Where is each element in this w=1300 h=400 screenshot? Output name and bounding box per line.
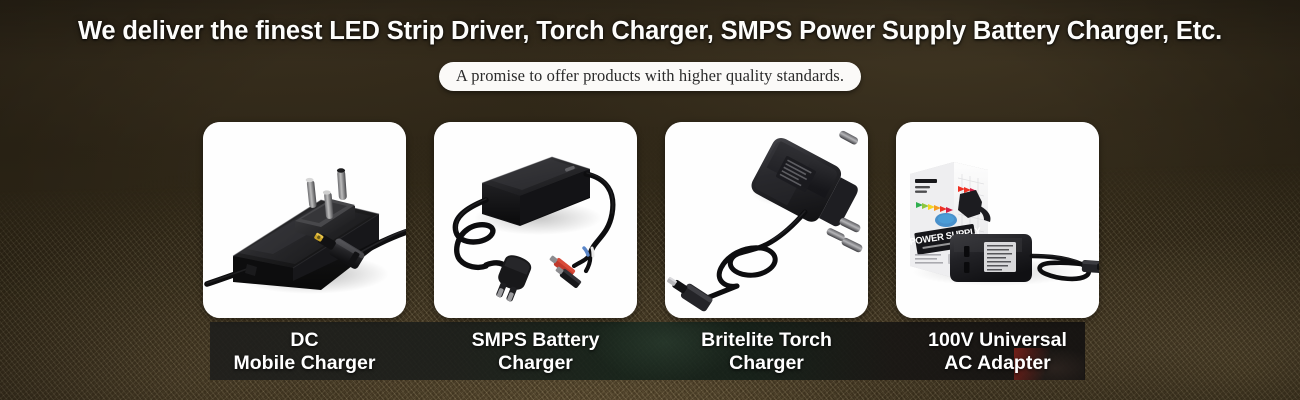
product-label-britelite-torch-charger: Britelite Torch Charger bbox=[665, 322, 868, 375]
label-line-1: SMPS Battery bbox=[472, 329, 600, 351]
product-label-row: DC Mobile Charger SMPS Battery Charger B… bbox=[203, 322, 1099, 375]
smps-battery-charger-photo bbox=[434, 122, 637, 318]
product-label-dc-mobile-charger: DC Mobile Charger bbox=[203, 322, 406, 375]
product-label-universal-ac-adapter: 100V Universal AC Adapter bbox=[896, 322, 1099, 375]
subtitle-pill-wrapper: A promise to offer products with higher … bbox=[0, 62, 1300, 91]
label-line-2: Charger bbox=[434, 352, 637, 375]
universal-ac-adapter-photo: POWER SUPPLY bbox=[896, 122, 1099, 318]
label-line-2: Charger bbox=[665, 352, 868, 375]
product-card-britelite-torch-charger[interactable] bbox=[665, 122, 868, 318]
label-line-1: 100V Universal bbox=[928, 329, 1067, 351]
britelite-torch-charger-photo bbox=[665, 122, 868, 318]
subtitle-pill: A promise to offer products with higher … bbox=[439, 62, 861, 91]
banner-headline: We deliver the finest LED Strip Driver, … bbox=[0, 17, 1300, 46]
label-line-2: Mobile Charger bbox=[203, 352, 406, 375]
label-line-1: DC bbox=[290, 329, 318, 351]
product-card-dc-mobile-charger[interactable] bbox=[203, 122, 406, 318]
product-card-universal-ac-adapter[interactable]: POWER SUPPLY bbox=[896, 122, 1099, 318]
product-card-smps-battery-charger[interactable] bbox=[434, 122, 637, 318]
product-label-smps-battery-charger: SMPS Battery Charger bbox=[434, 322, 637, 375]
label-line-1: Britelite Torch bbox=[701, 329, 832, 351]
dc-mobile-charger-photo bbox=[203, 122, 406, 318]
label-line-2: AC Adapter bbox=[896, 352, 1099, 375]
promo-banner: We deliver the finest LED Strip Driver, … bbox=[0, 0, 1300, 400]
product-card-row: POWER SUPPLY bbox=[203, 122, 1099, 318]
